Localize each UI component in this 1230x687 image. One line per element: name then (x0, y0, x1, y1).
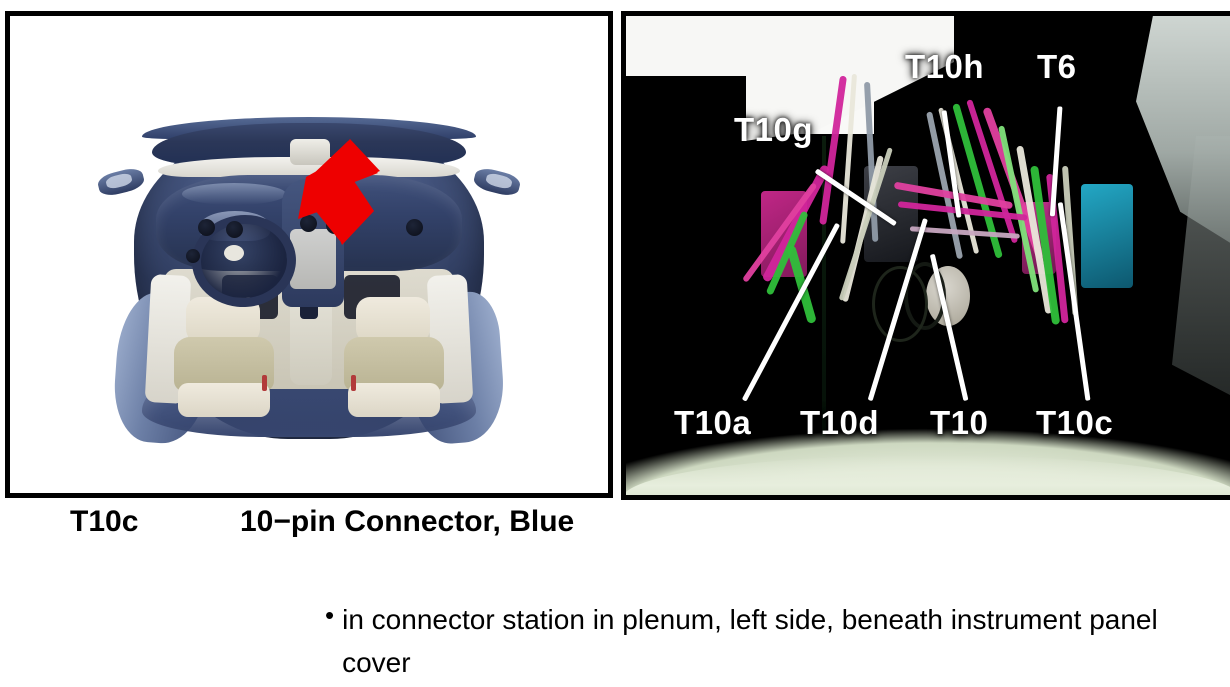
connector-label-t10g: T10g (734, 111, 813, 149)
caption-row: T10c 10−pin Connector, Blue (0, 505, 1230, 549)
seat-cushion (348, 383, 440, 417)
seat-left (172, 297, 276, 415)
location-note-text: in connector station in plenum, left sid… (342, 598, 1212, 684)
caption-connector-description: 10−pin Connector, Blue (240, 505, 574, 539)
connector-label-t10h: T10h (905, 48, 984, 86)
air-vent (406, 219, 423, 236)
connector-block-blue-t10c (1081, 184, 1133, 288)
bullet-dot-icon: • (325, 598, 334, 632)
seatbelt-post-left (262, 375, 267, 391)
air-vent (226, 221, 243, 238)
connector-label-t10a: T10a (674, 404, 751, 442)
seatbelt-post-right (351, 375, 356, 391)
connector-label-t10: T10 (930, 404, 988, 442)
seat-cushion (178, 383, 270, 417)
leader-line-t6 (1050, 106, 1063, 216)
car-illustration (94, 79, 524, 449)
connector-label-t6: T6 (1037, 48, 1077, 86)
connector-station-panel: T10g T10h T6 T10a T10d T10 T10c (621, 11, 1230, 500)
air-vent (186, 249, 200, 263)
photo-dark-left (626, 76, 746, 456)
vehicle-location-panel (5, 11, 613, 498)
connector-label-t10d: T10d (800, 404, 879, 442)
location-note-block: • in connector station in plenum, left s… (325, 598, 1225, 684)
caption-connector-code: T10c (70, 505, 138, 539)
beetle-interior-photo (10, 16, 608, 493)
dashboard-glare (182, 183, 286, 205)
red-arrow-icon (290, 137, 382, 249)
steering-wheel-hub (224, 245, 244, 261)
location-note-row: • in connector station in plenum, left s… (325, 598, 1225, 684)
connector-label-t10c: T10c (1036, 404, 1113, 442)
wire-strand-horizontal (910, 226, 1020, 239)
manual-page: T10g T10h T6 T10a T10d T10 T10c T10c 10−… (0, 0, 1230, 687)
air-vent (198, 219, 215, 236)
seat-right (342, 297, 446, 415)
wiring-harness-photo: T10g T10h T6 T10a T10d T10 T10c (626, 16, 1230, 495)
